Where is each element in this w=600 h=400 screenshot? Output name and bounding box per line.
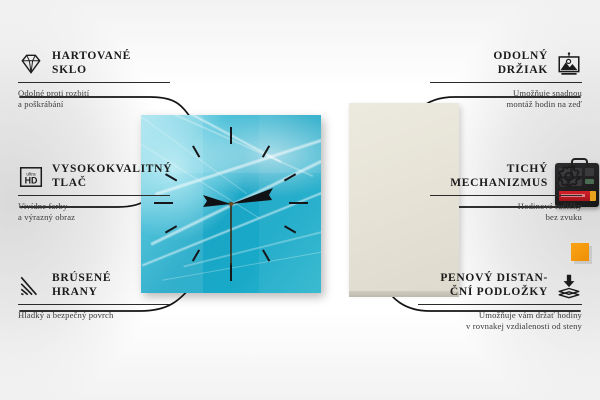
feature-durable-hanger: ODOLNÝ DRŽIAK Umožňuje snadnou montáž ho…: [430, 50, 582, 110]
feature-title: ODOLNÝ DRŽIAK: [430, 50, 548, 77]
feature-description: Umožňuje vám držať hodiny v rovnakej vzd…: [418, 310, 582, 332]
gear-icon: [556, 164, 582, 190]
second-hand: [230, 204, 232, 265]
feature-divider: [18, 304, 170, 305]
feature-tempered-glass: HARTOVANÉ SKLO Odolné proti rozbití a po…: [18, 50, 170, 110]
feature-title: VYSOKOKVALITNÝ TLAČ: [52, 163, 172, 190]
feature-foam-spacers: PENOVÝ DISTAN- ČNÍ PODLOŽKY Umožňuje vám…: [418, 272, 582, 332]
infographic-canvas: HARTOVANÉ SKLO Odolné proti rozbití a po…: [0, 0, 600, 400]
feature-divider: [18, 195, 170, 196]
foam-spacer-pad: [571, 243, 589, 261]
feature-divider: [418, 304, 582, 305]
feature-divider: [430, 82, 582, 83]
feature-title: BRÚSENÉ HRANY: [52, 272, 111, 299]
feature-polished-edges: BRÚSENÉ HRANY Hladký a bezpečný povrch: [18, 272, 170, 321]
product-photo: [141, 103, 459, 300]
feature-header: BRÚSENÉ HRANY: [18, 272, 170, 299]
feature-description: Vivídne farby a výrazný obraz: [18, 201, 170, 223]
polished-edges-icon: [18, 273, 44, 299]
ultra-hd-icon: ultra HD: [18, 164, 44, 190]
feature-divider: [430, 195, 582, 196]
feature-description: Hodinové ručičky bez zvuku: [430, 201, 582, 223]
feature-divider: [18, 82, 170, 83]
hour-hand: [203, 195, 231, 207]
feature-title: TICHÝ MECHANIZMUS: [430, 163, 548, 190]
minute-hand: [231, 188, 273, 204]
svg-text:HD: HD: [25, 175, 38, 185]
feature-description: Odolné proti rozbití a poškrábání: [18, 88, 170, 110]
feature-header: PENOVÝ DISTAN- ČNÍ PODLOŽKY: [418, 272, 582, 299]
feature-header: ODOLNÝ DRŽIAK: [430, 50, 582, 77]
feature-header: ultra HD VYSOKOKVALITNÝ TLAČ: [18, 163, 170, 190]
feature-description: Hladký a bezpečný povrch: [18, 310, 170, 321]
feature-high-quality-print: ultra HD VYSOKOKVALITNÝ TLAČ Vivídne far…: [18, 163, 170, 223]
diamond-icon: [18, 51, 44, 77]
feature-silent-mechanism: TICHÝ MECHANIZMUS Hodinové ručičky bez z…: [430, 163, 582, 223]
feature-header: TICHÝ MECHANIZMUS: [430, 163, 582, 190]
feature-title: HARTOVANÉ SKLO: [52, 50, 131, 77]
feature-title: PENOVÝ DISTAN- ČNÍ PODLOŽKY: [418, 272, 548, 299]
feature-description: Umožňuje snadnou montáž hodin na zeď: [430, 88, 582, 110]
clock-center-pin: [229, 202, 233, 206]
feature-header: HARTOVANÉ SKLO: [18, 50, 170, 77]
picture-frame-hanger-icon: [556, 51, 582, 77]
foam-spacer-icon: [556, 273, 582, 299]
